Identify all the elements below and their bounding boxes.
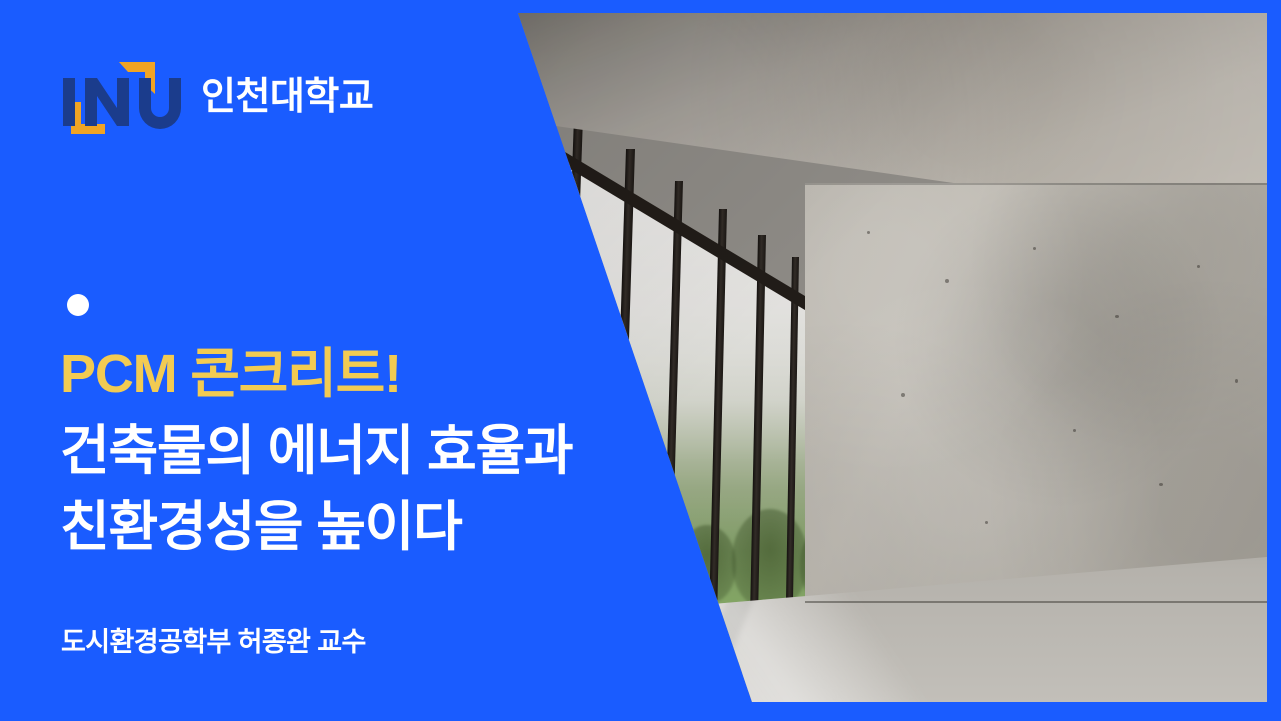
wall-speck (1073, 429, 1076, 432)
wall-speck (1159, 483, 1163, 486)
floor-shadow (610, 574, 691, 702)
wall-speck (867, 231, 870, 234)
bullet-dot-icon (67, 294, 89, 316)
headline-line-3: 친환경성을 높이다 (60, 489, 700, 566)
wall-speck (945, 279, 949, 283)
promo-banner: 인천대학교 PCM 콘크리트! 건축물의 에너지 효율과 친환경성을 높이다 도… (0, 0, 1281, 721)
tree-shape (732, 509, 808, 609)
concrete-wall (805, 183, 1267, 603)
brand-name: 인천대학교 (201, 78, 373, 116)
wall-speck (1033, 247, 1036, 250)
inu-logo-icon (57, 58, 183, 136)
wall-base-line (805, 601, 1267, 603)
page-title: PCM 콘크리트! 건축물의 에너지 효율과 친환경성을 높이다 (60, 336, 700, 566)
wall-speck (1115, 315, 1119, 318)
headline-line-1: PCM 콘크리트! (60, 336, 700, 413)
wall-speck (901, 393, 905, 397)
wall-speck (1235, 379, 1238, 383)
floor-shadow (540, 567, 629, 702)
brand-lockup: 인천대학교 (57, 58, 373, 136)
wall-speck (985, 521, 988, 524)
headline-line-2: 건축물의 에너지 효율과 (60, 413, 700, 490)
byline: 도시환경공학부 허종완 교수 (61, 620, 366, 659)
wall-speck (1197, 265, 1200, 268)
wall-grain (805, 183, 1267, 603)
